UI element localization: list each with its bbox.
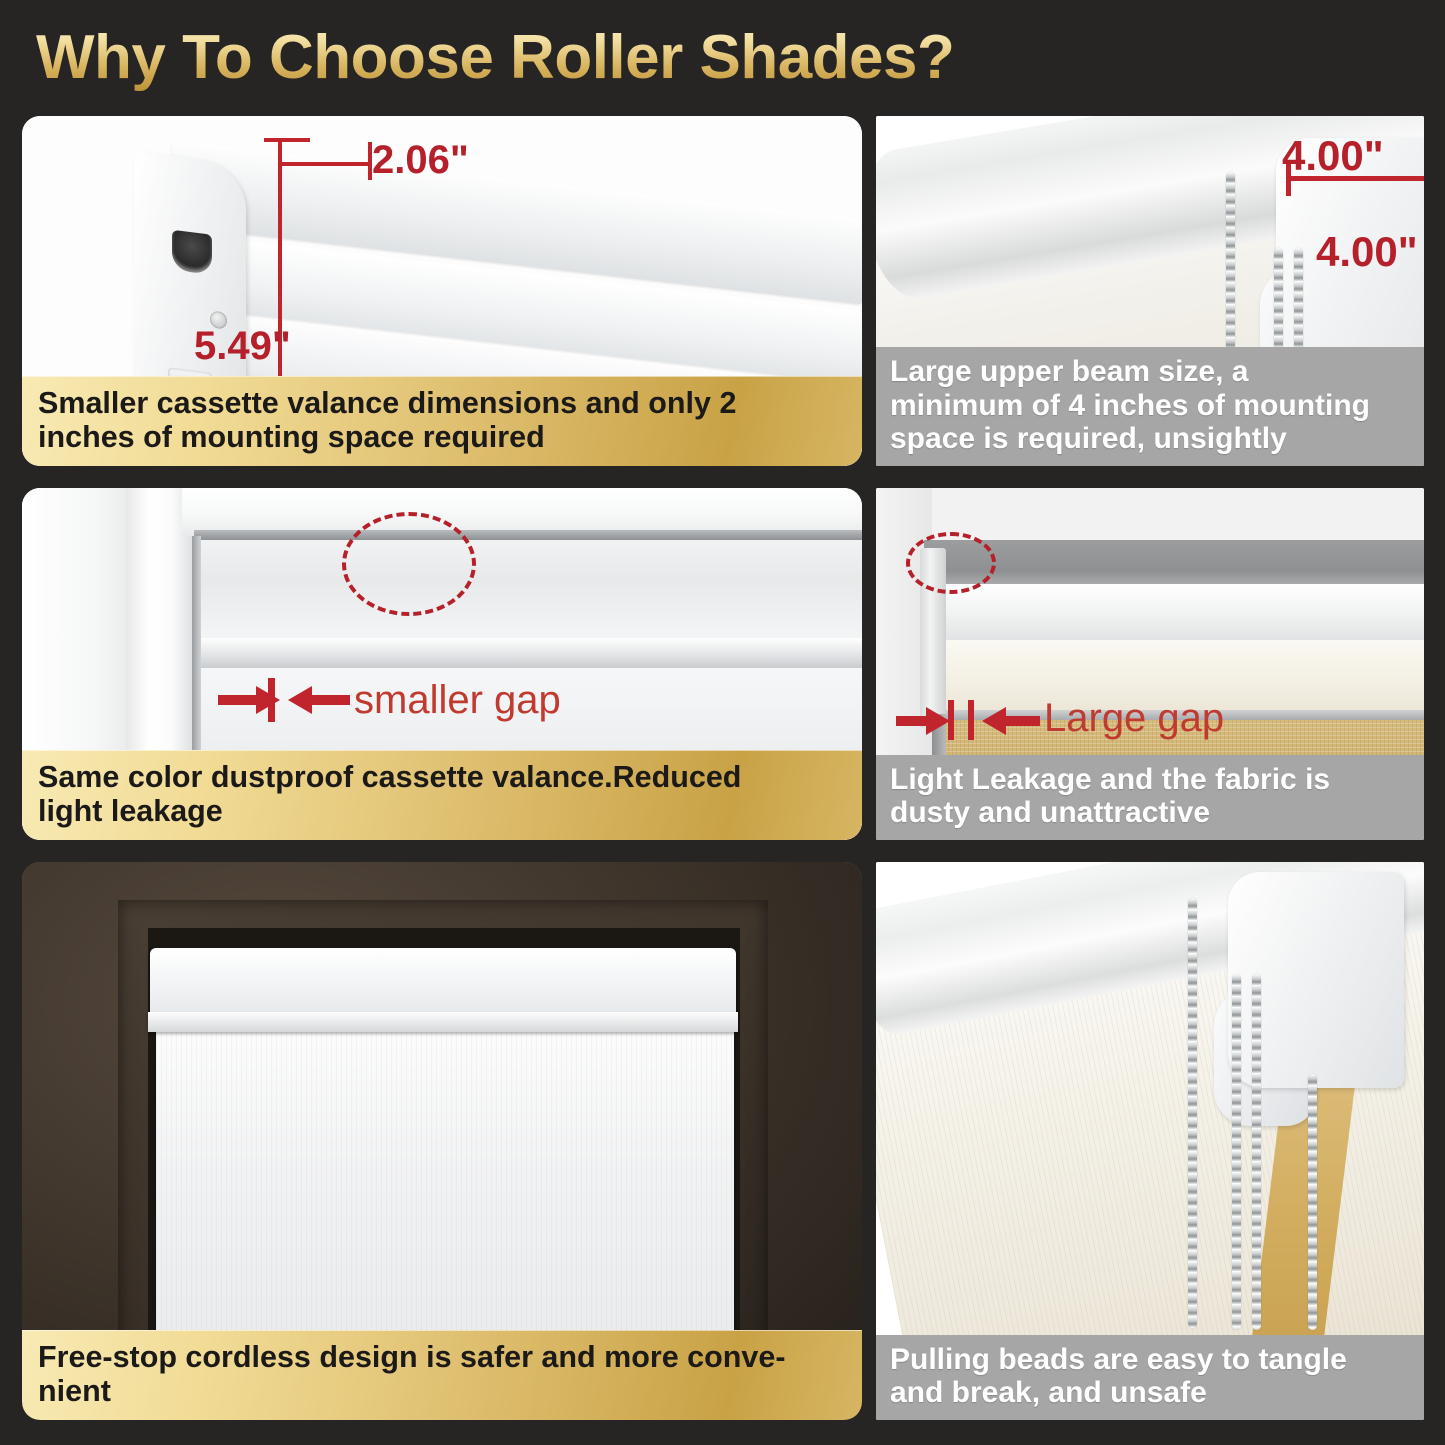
panel-1-caption: Smaller cassette valance dimensions and … (22, 376, 862, 466)
panel-dustproof-cassette: smaller gap Same color dustproof cassett… (22, 488, 862, 840)
panel-cordless-design: Free-stop cordless design is safer and m… (22, 862, 862, 1420)
arrow-right-icon (218, 682, 288, 718)
panel-2-caption: Large upper beam size, a minimum of 4 in… (876, 347, 1424, 466)
roller-shade-fabric (156, 1030, 734, 1360)
panel-light-leakage: Large gap Light Leakage and the fabric i… (876, 488, 1424, 840)
beam-width-label: 4.00" (1282, 132, 1384, 180)
caption-line: nient (38, 1374, 846, 1408)
caption-line: Large upper beam size, a (890, 355, 1410, 389)
panel-3-caption: Same color dustproof cassette valance.Re… (22, 750, 862, 840)
panel-smaller-cassette: 2.06" 5.49" Smaller cassette valance dim… (22, 116, 862, 466)
caption-line: inches of mounting space required (38, 420, 846, 454)
arrow-right-icon (896, 704, 956, 738)
caption-line: and break, and unsafe (890, 1376, 1410, 1410)
height-dim-tick-top (264, 138, 310, 142)
gap-label: smaller gap (354, 678, 561, 723)
bead-chain-1 (1188, 898, 1197, 1328)
panel-5-caption: Free-stop cordless design is safer and m… (22, 1330, 862, 1420)
caption-line: Pulling beads are easy to tangle (890, 1343, 1410, 1377)
page-title: Why To Choose Roller Shades? (36, 22, 1416, 94)
roller-tube (928, 584, 1424, 646)
height-dimension-label: 5.49" (194, 324, 291, 369)
panel-pulling-beads: Pulling beads are easy to tangle and bre… (876, 862, 1424, 1420)
frame-header (182, 488, 862, 536)
caption-line: Free-stop cordless design is safer and m… (38, 1340, 846, 1374)
cassette-lip (148, 1012, 738, 1032)
highlight-ellipse-icon (906, 532, 996, 594)
cassette-top-edge (194, 530, 862, 540)
caption-line: Same color dustproof cassette valance.Re… (38, 760, 846, 794)
beam-height-label: 4.00" (1316, 228, 1418, 276)
bead-chain-4 (1308, 1074, 1317, 1330)
bracket-slot-icon (172, 230, 212, 275)
panel-6-caption: Pulling beads are easy to tangle and bre… (876, 1335, 1424, 1420)
caption-line: Smaller cassette valance dimensions and … (38, 386, 846, 420)
width-dimension-label: 2.06" (372, 138, 469, 183)
gap-bar-2 (968, 700, 974, 740)
gap-label: Large gap (1044, 696, 1224, 741)
caption-line: minimum of 4 inches of mounting (890, 389, 1410, 423)
cassette-rail (194, 638, 862, 668)
caption-line: dusty and unattractive (890, 796, 1410, 830)
highlight-ellipse-icon (342, 512, 476, 616)
width-dim-line (280, 162, 372, 166)
caption-line: light leakage (38, 794, 846, 828)
bead-chain-3 (1252, 974, 1261, 1330)
fabric-upper (200, 540, 862, 640)
bead-chain-2 (1232, 974, 1241, 1330)
infographic-page: Why To Choose Roller Shades? 2.06" (0, 0, 1445, 1445)
caption-line: space is required, unsightly (890, 422, 1410, 456)
arrow-left-icon (280, 682, 350, 718)
panel-large-upper-beam: 4.00" 4.00" Large upper beam size, a min… (876, 116, 1424, 466)
caption-line: Light Leakage and the fabric is (890, 763, 1410, 797)
cassette-valance (150, 948, 736, 1020)
panel-4-caption: Light Leakage and the fabric is dusty an… (876, 755, 1424, 840)
arrow-left-icon (976, 704, 1040, 738)
